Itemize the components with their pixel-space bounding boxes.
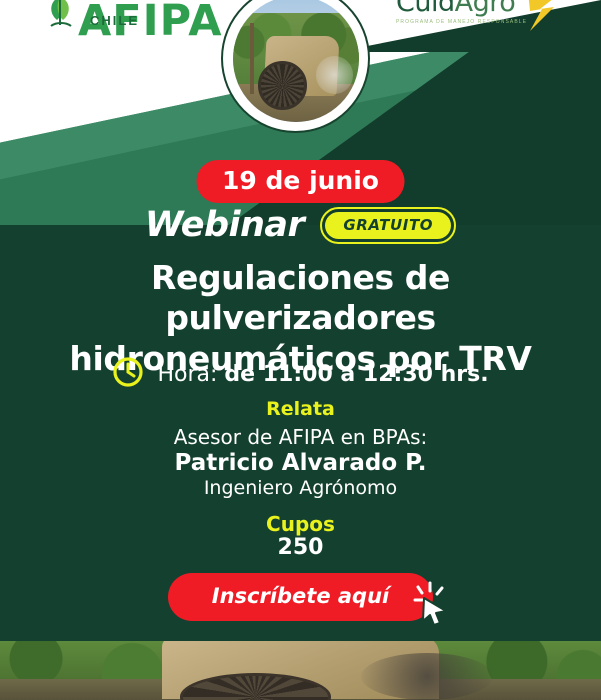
title-line-1: Regulaciones de pulverizadores [14, 258, 587, 339]
poster-content: 19 de junio Webinar GRATUITO Regulacione… [0, 0, 601, 700]
free-badge: GRATUITO [320, 207, 456, 244]
speaker-role: Asesor de AFIPA en BPAs: [0, 425, 601, 449]
webinar-row: Webinar GRATUITO [0, 205, 601, 245]
webinar-poster: AFIPA CHILE CuidAgro PROGRAMA DE MANEJO … [0, 0, 601, 700]
schedule-text: Hora: de 11:00 a 12:30 hrs. [157, 362, 488, 387]
schedule-value: de 11:00 a 12:30 hrs. [224, 362, 488, 387]
cta-row: Inscríbete aquí [0, 573, 601, 621]
schedule-label: Hora: [157, 362, 217, 387]
register-button[interactable]: Inscríbete aquí [168, 573, 434, 621]
speaker-name: Patricio Alvarado P. [0, 450, 601, 476]
capacity-label: Cupos [0, 512, 601, 536]
capacity-value: 250 [0, 535, 601, 560]
clock-icon [112, 356, 144, 393]
free-badge-label: GRATUITO [325, 212, 451, 239]
schedule-row: Hora: de 11:00 a 12:30 hrs. [0, 356, 601, 393]
click-cursor-icon [412, 581, 454, 632]
date-badge: 19 de junio [196, 160, 405, 203]
speaker-profession: Ingeniero Agrónomo [0, 477, 601, 499]
speaker-section-label: Relata [0, 398, 601, 420]
webinar-label: Webinar [145, 205, 304, 245]
